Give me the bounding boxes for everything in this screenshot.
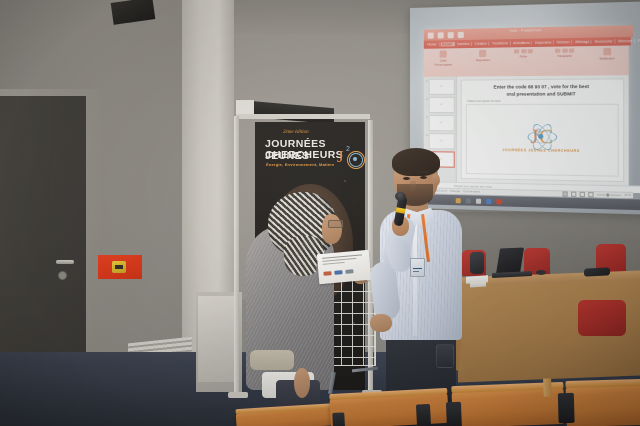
atom-icon <box>527 123 554 150</box>
banner-foot-left <box>228 392 248 398</box>
certificate-document <box>317 250 371 284</box>
woman-face <box>322 214 342 244</box>
ribbon-toolbar[interactable]: Coller Presse-papiers Diapositives Polic… <box>424 45 629 77</box>
paragraph-group-label: Paragraphe <box>558 54 572 57</box>
banner-edition: 2ème édition <box>283 130 309 135</box>
editing-group-label: Modification <box>600 57 615 60</box>
bullet-list-icon[interactable] <box>555 49 560 53</box>
woman-cardigan-hem <box>250 350 294 370</box>
tab-accueil[interactable]: Accueil <box>440 42 454 46</box>
door-lock-icon <box>58 271 67 280</box>
badge-line <box>413 268 422 269</box>
sponsor-logo-icon <box>345 269 353 274</box>
editor-body: 1 J²C 2 J²C 3 J²C 4 J²C <box>424 75 629 185</box>
shapes-icon[interactable] <box>603 48 611 55</box>
tab-affichage[interactable]: Affichage <box>573 40 592 45</box>
lecture-seat-row <box>329 385 449 426</box>
folder-icon[interactable] <box>466 198 471 203</box>
tab-fichier[interactable]: Fichier <box>426 42 439 46</box>
new-slide-icon[interactable] <box>479 50 486 57</box>
tab-creation[interactable]: Création <box>473 42 489 46</box>
clipboard-group-label: Presse-papiers <box>435 63 452 66</box>
man-eye-left <box>403 177 410 180</box>
font-controls-row[interactable] <box>514 49 533 53</box>
man-eye-right <box>420 176 427 179</box>
banner-j2c-logo: J 2 <box>337 148 363 172</box>
ribbon-group-slides[interactable]: Diapositives <box>463 47 503 61</box>
slide-logo-container: J2C JOURNÉES JEUNES CHERCHEURS <box>466 104 619 177</box>
tab-rechercher[interactable]: Rechercher <box>593 39 615 44</box>
zoom-slider-handle[interactable] <box>607 193 609 196</box>
lecture-seat-row <box>565 373 640 426</box>
ribbon-group-editing[interactable]: Modification <box>586 45 629 60</box>
sponsor-logo-icon <box>323 271 331 276</box>
thumbnail-row[interactable]: 2 J²C <box>425 97 455 113</box>
thumbnail-3[interactable]: J²C <box>429 115 455 131</box>
certificate-text-line <box>323 262 345 265</box>
italic-icon[interactable] <box>521 49 526 53</box>
projection-screen: Vote - PowerPoint Fichier Accueil Insert… <box>410 1 640 214</box>
numbered-list-icon[interactable] <box>562 49 567 53</box>
man-nose <box>410 181 416 190</box>
slide-sorter-icon[interactable] <box>571 191 576 196</box>
save-icon[interactable] <box>428 32 434 38</box>
fire-alarm-panel <box>98 255 142 279</box>
slide-title-line1: Enter the code 68 93 07 , vote for the b… <box>494 84 590 91</box>
seat-armrest <box>446 402 462 426</box>
status-spacer <box>483 192 559 194</box>
tab-animations[interactable]: Animations <box>512 41 533 45</box>
underline-icon[interactable] <box>528 49 533 53</box>
browser-icon[interactable] <box>486 198 491 203</box>
slide-canvas-area[interactable]: Enter the code 68 93 07 , vote for the b… <box>457 75 629 185</box>
undo-icon[interactable] <box>438 32 444 38</box>
thumbnail-preview-icon: J²C <box>440 122 442 124</box>
banner-subtitle: Énergie, Environnement, Matière <box>266 162 334 167</box>
powerpoint-window[interactable]: Vote - PowerPoint Fichier Accueil Insert… <box>424 25 629 197</box>
man-pocket <box>436 344 454 368</box>
badge-line <box>413 271 419 272</box>
slide-body-placeholder[interactable]: Cliquez pour ajouter du texte <box>467 100 501 103</box>
banner-atom-core <box>353 157 357 161</box>
man-right-hand <box>370 314 392 332</box>
thumbnail-row[interactable]: 1 J²C <box>425 79 455 95</box>
current-slide[interactable]: Enter the code 68 93 07 , vote for the b… <box>461 78 624 182</box>
normal-view-icon[interactable] <box>563 191 568 196</box>
thumbnail-number: 2 <box>425 97 428 101</box>
redo-icon[interactable] <box>448 32 454 38</box>
tab-memorer[interactable]: Mémorer <box>617 39 635 44</box>
explorer-icon[interactable] <box>456 198 461 203</box>
font-group-label: Police <box>520 55 527 58</box>
seat-armrest <box>558 393 575 423</box>
seat-divider-post <box>543 378 552 396</box>
name-badge <box>410 258 425 277</box>
side-partition-inner <box>198 296 238 382</box>
banner-stand-left <box>234 116 239 398</box>
thumbnail-row[interactable]: 4 J²C <box>425 133 455 149</box>
seat-backrest <box>566 385 640 426</box>
ribbon-group-clipboard[interactable]: Coller Presse-papiers <box>424 48 463 67</box>
thumbnail-2[interactable]: J²C <box>429 97 455 113</box>
banner-top-rail <box>236 114 370 119</box>
tab-insertion[interactable]: Insertion <box>456 42 472 46</box>
window-title: Vote - PowerPoint <box>510 28 542 33</box>
thumbnail-preview-icon: J²C <box>440 104 442 106</box>
thumbnail-preview-icon: J²C <box>440 140 442 142</box>
banner-title-line2: CHERCHEURS <box>265 149 343 161</box>
zoom-level: 47 % <box>624 194 631 197</box>
banner-logo-j: J <box>337 148 344 165</box>
seat-armrest <box>332 412 345 426</box>
tab-transitions[interactable]: Transitions <box>490 41 510 45</box>
tab-revision[interactable]: Révision <box>555 40 572 44</box>
zoom-slider[interactable] <box>597 194 621 195</box>
language-indicator[interactable]: Français <box>450 190 460 193</box>
lecture-seat-row <box>451 378 565 426</box>
red-seat-foreground <box>578 300 626 336</box>
ribbon-group-paragraph[interactable]: Paragraphe <box>544 46 586 58</box>
fire-alarm-button-icon[interactable] <box>115 265 123 269</box>
paragraph-controls-row[interactable] <box>555 48 574 52</box>
seat-armrest <box>416 404 431 426</box>
thumbnail-number: 4 <box>425 133 428 137</box>
thumbnail-preview-icon: J²C <box>440 159 442 161</box>
thumbnail-number: 3 <box>425 115 428 119</box>
mouse-icon[interactable] <box>536 270 546 275</box>
ribbon-group-font[interactable]: Police <box>503 47 544 58</box>
paste-icon[interactable] <box>440 50 447 57</box>
bold-icon[interactable] <box>514 49 519 53</box>
comments-button[interactable]: Commentaires <box>463 190 480 193</box>
align-left-icon[interactable] <box>569 48 574 52</box>
sponsor-logo-icon <box>334 270 342 275</box>
reading-view-icon[interactable] <box>580 192 585 197</box>
thumbnail-preview-icon: J²C <box>440 86 442 88</box>
conference-room-photo: Vote - PowerPoint Fichier Accueil Insert… <box>0 0 640 426</box>
slideshow-icon[interactable] <box>588 192 593 197</box>
powerpoint-icon[interactable] <box>496 199 501 204</box>
thumbnail-1[interactable]: J²C <box>429 79 455 95</box>
desk-object <box>584 267 610 276</box>
laptop-screen[interactable] <box>496 248 524 275</box>
slide-title-line2: oral presentation and SUBMIT <box>506 91 575 98</box>
woman-glasses-icon <box>328 220 343 228</box>
dark-chair <box>470 252 484 274</box>
clipboard-primary-label: Coller <box>440 59 447 62</box>
certificate-logos <box>323 269 353 276</box>
tab-partager[interactable]: Partager <box>636 39 640 44</box>
woman-hand-lower <box>294 368 310 398</box>
tab-diaporama[interactable]: Diaporama <box>533 40 554 45</box>
thumbnail-4[interactable]: J²C <box>429 133 455 149</box>
mail-icon[interactable] <box>476 198 481 203</box>
slides-group-label: Diapositives <box>476 58 490 61</box>
man-ear <box>432 174 440 186</box>
banner-logo-superscript: 2 <box>346 146 350 153</box>
thumbnail-row[interactable]: 3 J²C <box>425 115 455 131</box>
customize-icon[interactable] <box>458 31 464 37</box>
man-hair <box>392 148 440 176</box>
door-handle-icon[interactable] <box>56 260 74 264</box>
thumbnail-number: 1 <box>425 79 428 83</box>
j2c-logo: J2C <box>530 127 551 148</box>
